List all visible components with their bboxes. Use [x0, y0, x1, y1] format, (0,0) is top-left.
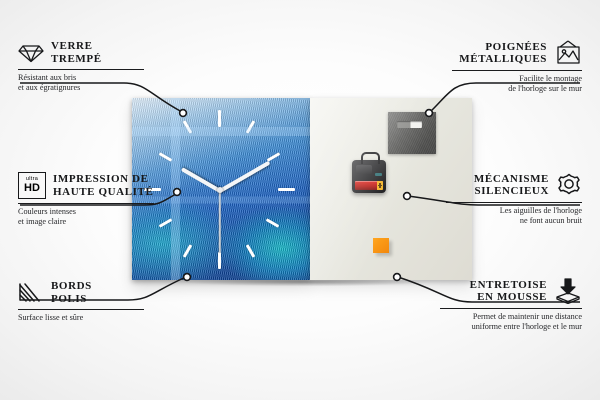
callout-description: Facilite le montage de l'horloge sur le … — [452, 74, 582, 94]
picture-hanger-icon — [554, 40, 582, 66]
callout-title: BORDS POLIS — [51, 280, 92, 305]
infographic-canvas: VERRE TREMPÉ Résistant aux bris et aux é… — [0, 0, 600, 400]
tick-mark — [183, 244, 193, 258]
ultra-hd-icon: ultra HD — [18, 172, 46, 199]
tick-mark — [267, 152, 281, 162]
mechanism-detail — [356, 165, 372, 174]
clock-center-hub — [217, 187, 223, 193]
callout-divider — [452, 70, 582, 71]
callout-description: Les aiguilles de l'horloge ne font aucun… — [446, 206, 582, 226]
callout-title: POIGNÉES MÉTALLIQUES — [459, 41, 547, 66]
tick-mark — [246, 244, 256, 258]
metal-hanger-plate — [388, 112, 436, 154]
clock-second-hand — [219, 191, 221, 253]
ultra-hd-icon-main-text: HD — [24, 183, 40, 194]
callout-title: ENTRETOISE EN MOUSSE — [470, 279, 547, 304]
hanger-slot — [397, 121, 422, 128]
callout-description: Couleurs intenses et image claire — [18, 207, 154, 227]
battery-plus-terminal — [377, 181, 383, 190]
aa-battery — [355, 181, 383, 190]
callout-title: IMPRESSION DE HAUTE QUALITÉ — [53, 173, 153, 198]
tick-mark — [266, 218, 280, 228]
callout-verre-trempe: VERRE TREMPÉ Résistant aux bris et aux é… — [18, 40, 144, 93]
tick-mark — [159, 218, 173, 228]
callout-divider — [18, 309, 144, 310]
callout-divider — [446, 202, 582, 203]
diamond-icon — [18, 43, 44, 63]
callout-divider — [440, 308, 582, 309]
polished-edges-icon — [18, 282, 44, 304]
callout-divider — [18, 203, 154, 204]
callout-title: VERRE TREMPÉ — [51, 40, 102, 65]
callout-impression-haute-qualite: ultra HD IMPRESSION DE HAUTE QUALITÉ Cou… — [18, 172, 154, 227]
tick-mark — [183, 120, 193, 134]
tick-mark — [278, 188, 295, 191]
callout-divider — [18, 69, 144, 70]
callout-description: Permet de maintenir une distance uniform… — [440, 312, 582, 332]
callout-entretoise-en-mousse: ENTRETOISE EN MOUSSE Permet de maintenir… — [440, 278, 582, 332]
callout-description: Surface lisse et sûre — [18, 313, 144, 323]
callout-description: Résistant aux bris et aux égratignures — [18, 73, 144, 93]
callout-title: MÉCANISME SILENCIEUX — [474, 173, 549, 198]
product-photo — [132, 98, 472, 280]
callout-mecanisme-silencieux: MÉCANISME SILENCIEUX Les aiguilles de l'… — [446, 172, 582, 226]
clock-hour-hand — [181, 167, 221, 192]
tick-mark — [218, 110, 221, 127]
tick-mark — [218, 252, 221, 269]
foam-spacer-icon — [554, 278, 582, 304]
callout-poignees-metalliques: POIGNÉES MÉTALLIQUES Facilite le montage… — [452, 40, 582, 94]
mechanism-hanging-loop — [361, 152, 380, 164]
mechanism-label — [375, 173, 382, 176]
tick-mark — [246, 120, 256, 134]
tick-mark — [159, 152, 173, 162]
quartz-clock-mechanism — [352, 160, 386, 193]
callout-bords-polis: BORDS POLIS Surface lisse et sûre — [18, 280, 144, 323]
tempered-glass-clock-face — [132, 98, 310, 280]
foam-spacer-pad — [373, 238, 389, 253]
clock-minute-hand — [219, 161, 270, 193]
gear-icon — [556, 172, 582, 198]
